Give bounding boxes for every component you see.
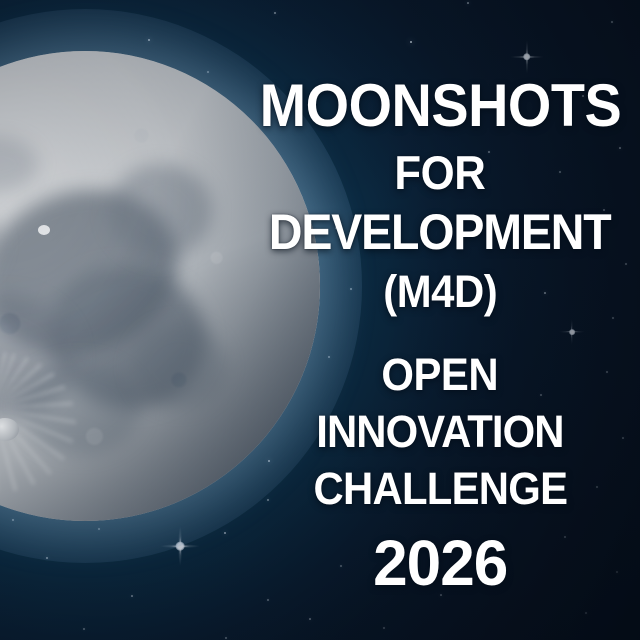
title-line-moonshots: MOONSHOTS — [259, 76, 621, 136]
subtitle-line-challenge: CHALLENGE — [313, 466, 567, 511]
title-line-for: FOR — [395, 149, 486, 196]
subtitle-line-open: OPEN — [382, 352, 499, 397]
poster-copy: MOONSHOTS FOR DEVELOPMENT (M4D) OPEN INN… — [288, 0, 592, 640]
subtitle-line-innovation: INNOVATION — [316, 409, 563, 454]
year-label: 2026 — [373, 531, 507, 595]
poster-canvas: MOONSHOTS FOR DEVELOPMENT (M4D) OPEN INN… — [0, 0, 640, 640]
title-line-acronym: (M4D) — [383, 269, 497, 314]
title-line-development: DEVELOPMENT — [269, 207, 611, 257]
